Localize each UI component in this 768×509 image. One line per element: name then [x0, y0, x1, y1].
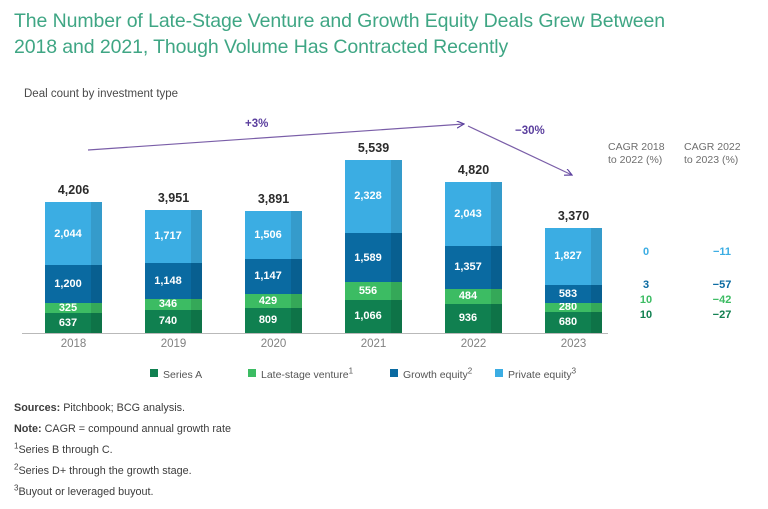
segment-2018-series-a[interactable]: 637 — [45, 313, 102, 333]
segment-value-label: 429 — [245, 295, 291, 307]
x-axis-label-2022: 2022 — [445, 338, 502, 350]
footnote-3: 3Buyout or leveraged buyout. — [14, 482, 754, 503]
cagr-column-header-2: CAGR 2022to 2023 (%) — [684, 141, 768, 167]
annotation-label-2: −30% — [515, 125, 545, 137]
footer-note: Note: CAGR = compound annual growth rate — [14, 419, 754, 440]
segment-value-label: 484 — [445, 290, 491, 302]
segment-2020-late-stage-venture[interactable]: 429 — [245, 294, 302, 307]
chart-legend: Series ALate-stage venture1Growth equity… — [0, 369, 768, 385]
segment-2022-growth-equity[interactable]: 1,357 — [445, 246, 502, 288]
segment-shade — [191, 210, 202, 264]
segment-value-label: 740 — [145, 315, 191, 327]
cagr-value-3-1: 10 — [616, 294, 676, 306]
segment-value-label: 1,200 — [45, 278, 91, 290]
legend-footnote-marker: 2 — [468, 367, 472, 376]
bar-2021[interactable]: 1,0665561,5892,328 — [345, 160, 402, 333]
segment-value-label: 936 — [445, 312, 491, 324]
segment-shade — [391, 233, 402, 283]
x-axis-label-2023: 2023 — [545, 338, 602, 350]
bar-2018[interactable]: 6373251,2002,044 — [45, 202, 102, 333]
segment-shade — [491, 289, 502, 304]
bar-2019[interactable]: 7403461,1481,717 — [145, 210, 202, 333]
segment-shade — [591, 312, 602, 333]
segment-2020-series-a[interactable]: 809 — [245, 308, 302, 333]
segment-shade — [291, 259, 302, 295]
legend-label: Private equity — [508, 369, 572, 381]
annotation-label-1: +3% — [245, 118, 268, 130]
x-axis-label-2021: 2021 — [345, 338, 402, 350]
segment-2023-private-equity[interactable]: 1,827 — [545, 228, 602, 285]
segment-shade — [591, 285, 602, 303]
segment-value-label: 346 — [145, 299, 191, 310]
bar-2020[interactable]: 8094291,1471,506 — [245, 211, 302, 333]
footnote-2: 2Series D+ through the growth stage. — [14, 461, 754, 482]
footer-notes: Sources: Pitchbook; BCG analysis. Note: … — [14, 398, 754, 503]
segment-2018-private-equity[interactable]: 2,044 — [45, 202, 102, 266]
segment-shade — [491, 304, 502, 333]
bar-total-label-2018: 4,206 — [45, 183, 102, 197]
segment-2023-late-stage-venture[interactable]: 280 — [545, 303, 602, 312]
segment-value-label: 556 — [345, 285, 391, 297]
segment-2022-late-stage-venture[interactable]: 484 — [445, 289, 502, 304]
cagr-value-2-2: −57 — [692, 279, 752, 291]
segment-value-label: 1,147 — [245, 270, 291, 282]
segment-shade — [391, 300, 402, 333]
cagr-value-2-1: 3 — [616, 279, 676, 291]
segment-value-label: 2,043 — [445, 208, 491, 220]
x-axis-label-2020: 2020 — [245, 338, 302, 350]
segment-2019-late-stage-venture[interactable]: 346 — [145, 299, 202, 310]
segment-2021-late-stage-venture[interactable]: 556 — [345, 282, 402, 299]
bar-total-label-2022: 4,820 — [445, 163, 502, 177]
bar-total-label-2023: 3,370 — [545, 209, 602, 223]
legend-footnote-marker: 1 — [349, 367, 353, 376]
segment-value-label: 1,148 — [145, 275, 191, 287]
segment-shade — [491, 182, 502, 246]
segment-value-label: 1,589 — [345, 252, 391, 264]
segment-2019-series-a[interactable]: 740 — [145, 310, 202, 333]
footnote-1: 1Series B through C. — [14, 440, 754, 461]
segment-2018-growth-equity[interactable]: 1,200 — [45, 265, 102, 302]
segment-2022-private-equity[interactable]: 2,043 — [445, 182, 502, 246]
segment-shade — [391, 160, 402, 233]
segment-2020-growth-equity[interactable]: 1,147 — [245, 259, 302, 295]
segment-value-label: 680 — [545, 316, 591, 328]
segment-value-label: 583 — [545, 288, 591, 300]
segment-2021-private-equity[interactable]: 2,328 — [345, 160, 402, 233]
segment-value-label: 1,357 — [445, 261, 491, 273]
bar-chart: 6373251,2002,0444,20620187403461,1481,71… — [0, 0, 768, 400]
bar-2023[interactable]: 6802805831,827 — [545, 228, 602, 333]
x-axis-label-2018: 2018 — [45, 338, 102, 350]
legend-item-private-equity[interactable]: Private equity3 — [495, 369, 576, 381]
legend-label: Series A — [163, 369, 202, 381]
segment-shade — [291, 211, 302, 258]
legend-swatch-icon — [495, 369, 503, 377]
bar-2022[interactable]: 9364841,3572,043 — [445, 182, 502, 333]
cagr-value-4-2: −27 — [692, 309, 752, 321]
segment-2023-growth-equity[interactable]: 583 — [545, 285, 602, 303]
legend-footnote-marker: 3 — [572, 367, 576, 376]
segment-value-label: 1,066 — [345, 310, 391, 322]
segment-value-label: 1,827 — [545, 250, 591, 262]
cagr-value-4-1: 10 — [616, 309, 676, 321]
sources-text: Pitchbook; BCG analysis. — [60, 402, 185, 414]
legend-item-series-a[interactable]: Series A — [150, 369, 202, 381]
bar-total-label-2019: 3,951 — [145, 191, 202, 205]
segment-2022-series-a[interactable]: 936 — [445, 304, 502, 333]
bar-total-label-2020: 3,891 — [245, 192, 302, 206]
x-axis-label-2019: 2019 — [145, 338, 202, 350]
segment-2021-series-a[interactable]: 1,066 — [345, 300, 402, 333]
cagr-value-1-1: 0 — [616, 246, 676, 258]
segment-2019-growth-equity[interactable]: 1,148 — [145, 263, 202, 299]
legend-item-growth-equity[interactable]: Growth equity2 — [390, 369, 472, 381]
bar-total-label-2021: 5,539 — [345, 141, 402, 155]
segment-shade — [191, 310, 202, 333]
segment-value-label: 1,717 — [145, 230, 191, 242]
segment-2020-private-equity[interactable]: 1,506 — [245, 211, 302, 258]
segment-value-label: 809 — [245, 314, 291, 326]
segment-shade — [391, 282, 402, 299]
segment-2019-private-equity[interactable]: 1,717 — [145, 210, 202, 264]
segment-shade — [91, 265, 102, 302]
segment-2021-growth-equity[interactable]: 1,589 — [345, 233, 402, 283]
footer-sources: Sources: Pitchbook; BCG analysis. — [14, 398, 754, 419]
segment-2018-late-stage-venture[interactable]: 325 — [45, 303, 102, 313]
segment-value-label: 637 — [45, 317, 91, 329]
segment-2023-series-a[interactable]: 680 — [545, 312, 602, 333]
segment-value-label: 280 — [545, 303, 591, 312]
note-text: CAGR = compound annual growth rate — [42, 423, 231, 435]
sources-label: Sources: — [14, 402, 60, 414]
cagr-value-1-2: −11 — [692, 246, 752, 258]
legend-swatch-icon — [150, 369, 158, 377]
segment-value-label: 2,044 — [45, 228, 91, 240]
segment-value-label: 325 — [45, 303, 91, 313]
legend-label: Growth equity — [403, 369, 468, 381]
segment-shade — [291, 308, 302, 333]
segment-shade — [291, 294, 302, 307]
segment-shade — [91, 303, 102, 313]
legend-item-late-stage-venture[interactable]: Late-stage venture1 — [248, 369, 353, 381]
note-label: Note: — [14, 423, 42, 435]
segment-value-label: 1,506 — [245, 229, 291, 241]
cagr-value-3-2: −42 — [692, 294, 752, 306]
segment-shade — [191, 299, 202, 310]
legend-label: Late-stage venture — [261, 369, 349, 381]
segment-value-label: 2,328 — [345, 190, 391, 202]
segment-shade — [91, 313, 102, 333]
segment-shade — [491, 246, 502, 288]
segment-shade — [591, 228, 602, 285]
segment-shade — [91, 202, 102, 266]
segment-shade — [591, 303, 602, 312]
segment-shade — [191, 263, 202, 299]
legend-swatch-icon — [390, 369, 398, 377]
x-axis-line — [22, 333, 608, 334]
legend-swatch-icon — [248, 369, 256, 377]
